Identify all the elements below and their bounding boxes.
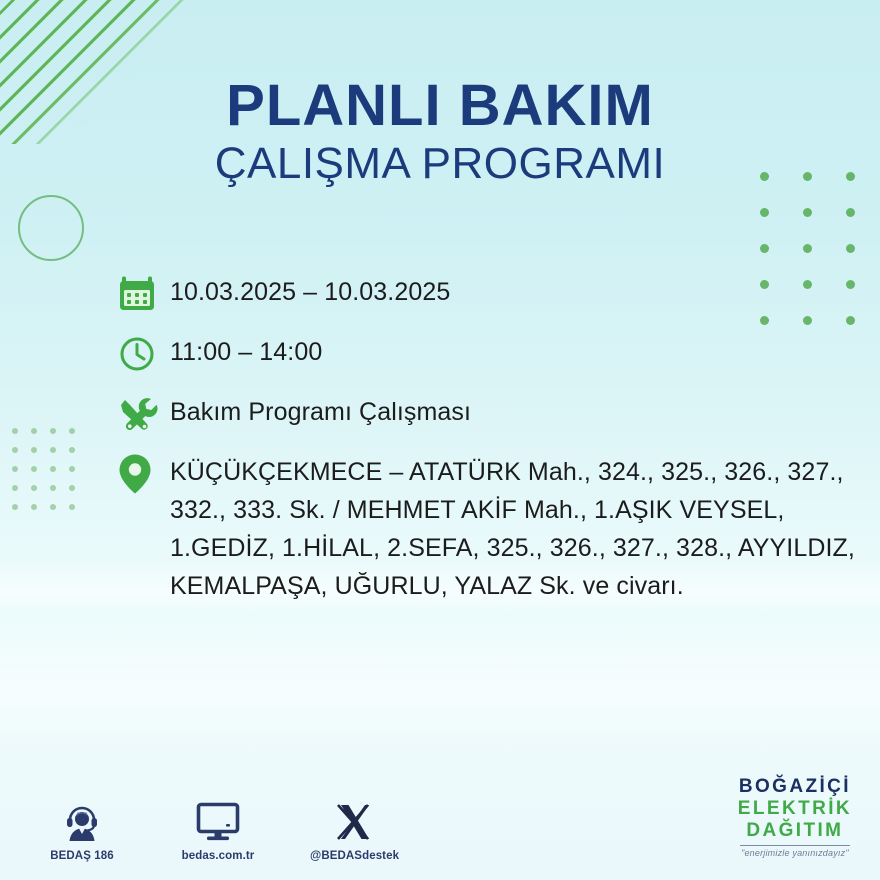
call-center-agent-icon [38, 797, 126, 843]
date-range-text: 10.03.2025 – 10.03.2025 [170, 272, 450, 311]
page-subtitle: ÇALIŞMA PROGRAMI [0, 140, 880, 188]
brand-logo: BOĞAZİÇİ ELEKTRİK DAĞITIM "enerjimizle y… [738, 777, 852, 858]
tools-icon [118, 392, 170, 436]
brand-line-1: BOĞAZİÇİ [738, 777, 852, 796]
detail-row-time: 11:00 – 14:00 [118, 332, 858, 376]
footer-contact-links: BEDAŞ 186 bedas.com.tr @B [38, 797, 398, 862]
dot-grid-decoration-left [12, 428, 88, 523]
circle-outline-decoration [18, 195, 84, 261]
brand-line-3: DAĞITIM [738, 821, 852, 840]
location-text: KÜÇÜKÇEKMECE – ATATÜRK Mah., 324., 325.,… [170, 452, 858, 605]
footer-link-x-label: @BEDASdestek [310, 850, 398, 862]
poster-header: PLANLI BAKIM ÇALIŞMA PROGRAMI [0, 76, 880, 189]
x-twitter-icon [310, 797, 398, 843]
maintenance-details: 10.03.2025 – 10.03.2025 11:00 – 14:00 [118, 272, 858, 605]
brand-line-2: ELEKTRİK [738, 799, 852, 818]
footer-link-website-label: bedas.com.tr [174, 850, 262, 862]
detail-row-work-type: Bakım Programı Çalışması [118, 392, 858, 436]
footer-link-x[interactable]: @BEDASdestek [310, 797, 398, 862]
planned-maintenance-poster: PLANLI BAKIM ÇALIŞMA PROGRAMI [0, 0, 880, 880]
detail-row-location: KÜÇÜKÇEKMECE – ATATÜRK Mah., 324., 325.,… [118, 452, 858, 605]
brand-tagline: "enerjimizle yanınızdayız" [738, 849, 852, 858]
detail-row-date: 10.03.2025 – 10.03.2025 [118, 272, 858, 316]
brand-divider [740, 845, 850, 846]
footer-link-website[interactable]: bedas.com.tr [174, 797, 262, 862]
time-range-text: 11:00 – 14:00 [170, 332, 322, 371]
background-wave-band-secondary [0, 630, 880, 750]
clock-icon [118, 332, 170, 376]
monitor-icon [174, 797, 262, 843]
footer-link-phone-label: BEDAŞ 186 [38, 850, 126, 862]
work-type-text: Bakım Programı Çalışması [170, 392, 471, 431]
location-pin-icon [118, 452, 170, 496]
calendar-icon [118, 272, 170, 316]
page-title: PLANLI BAKIM [0, 76, 880, 136]
footer-link-phone[interactable]: BEDAŞ 186 [38, 797, 126, 862]
